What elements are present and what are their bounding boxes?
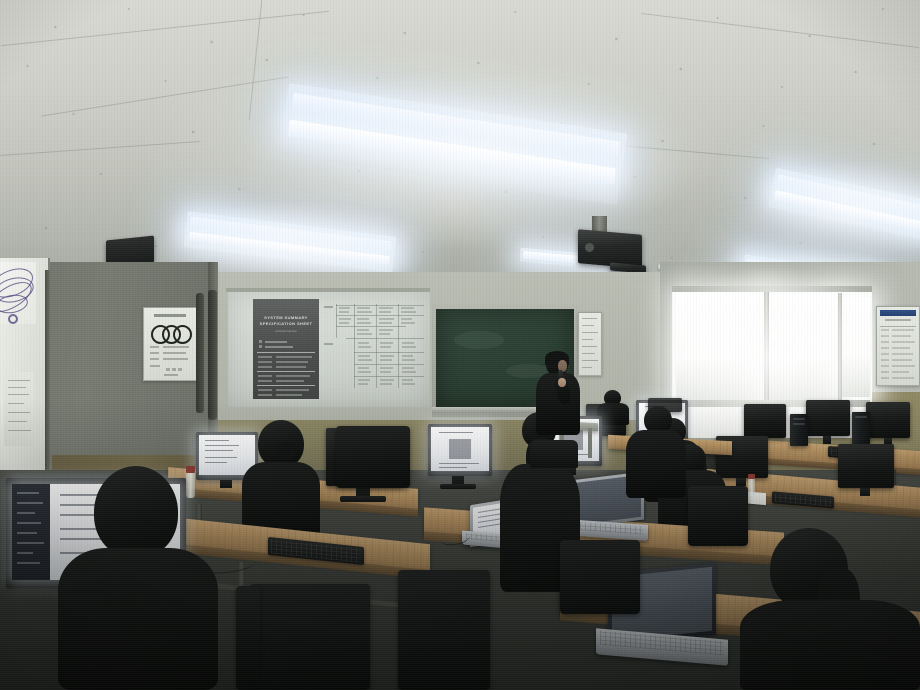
pc-tower	[852, 412, 870, 444]
poster-footer	[164, 374, 178, 376]
poster-line	[150, 365, 160, 367]
sidebar-line	[17, 492, 39, 494]
table-cell	[358, 359, 372, 361]
notice-cell	[892, 371, 909, 373]
slide-bullet	[265, 346, 293, 348]
drive-bay	[793, 418, 805, 420]
window-head-trim	[672, 286, 872, 292]
right-notice-board	[876, 306, 920, 386]
table-cell	[402, 379, 413, 381]
table-column-rule	[376, 304, 377, 388]
table-cell	[357, 333, 372, 335]
monitor-stand	[860, 488, 870, 496]
table-cell	[380, 359, 392, 361]
slide-row	[276, 356, 312, 358]
notice-cell	[881, 329, 889, 331]
window-blind	[842, 297, 870, 397]
ring-icon	[173, 325, 192, 344]
slide-row	[258, 366, 272, 368]
notice-cell	[881, 341, 889, 343]
window-mullion	[838, 293, 842, 403]
table-cell	[402, 346, 416, 348]
notice-cell	[892, 347, 910, 349]
sidebar-line	[17, 552, 33, 554]
slide-divider	[257, 352, 315, 353]
slide-row	[258, 394, 272, 396]
document-line	[439, 432, 473, 433]
table-cell	[380, 371, 391, 373]
table-cell	[358, 379, 370, 381]
sidebar-line	[17, 512, 35, 514]
water-bottle	[748, 478, 755, 496]
window-blind	[676, 292, 764, 407]
sidebar-line	[17, 522, 41, 524]
table-cell	[380, 355, 394, 357]
notice-line	[582, 346, 597, 347]
drive-bay	[793, 423, 805, 425]
table-cell	[401, 311, 416, 313]
document-sidebar	[12, 484, 50, 580]
classroom-photo: SYSTEM SUMMARY SPECIFICATION SHEET techn…	[0, 0, 920, 690]
slide-divider	[257, 385, 315, 386]
hair-bun	[278, 442, 296, 460]
document-line	[205, 445, 239, 446]
table-cell	[402, 367, 414, 369]
notice-cell	[892, 329, 914, 331]
student-left-mid	[242, 420, 320, 540]
notice-cell	[881, 347, 889, 349]
slide-row	[276, 361, 308, 363]
slide-row	[276, 366, 306, 368]
sidebar-line	[17, 542, 44, 544]
table-rule	[346, 338, 424, 339]
slide-row	[258, 356, 272, 358]
wall-artwork	[0, 262, 36, 324]
monitor-stand	[220, 480, 232, 488]
table-rule	[354, 364, 424, 365]
slide-bullet	[265, 341, 287, 343]
notice-line	[582, 360, 598, 361]
table-cell	[339, 318, 351, 320]
table-cell	[379, 329, 393, 331]
table-cell	[358, 383, 368, 385]
chair[interactable]	[560, 540, 640, 614]
table-column-rule	[336, 304, 337, 338]
notice-line	[582, 339, 593, 340]
student-front-left	[58, 466, 218, 690]
torso	[626, 430, 686, 498]
notice-line	[582, 325, 594, 326]
notice-cell	[892, 365, 915, 367]
table-cell	[357, 322, 371, 324]
notice-rule	[880, 326, 916, 327]
table-cell	[379, 311, 391, 313]
table-cell	[401, 307, 414, 309]
chair[interactable]	[398, 570, 490, 690]
notice-line	[582, 367, 592, 368]
monitor-back-right-2	[806, 400, 850, 436]
table-cell	[339, 307, 350, 309]
table-cell	[402, 371, 416, 373]
table-cell	[380, 346, 391, 348]
notice-line	[8, 430, 31, 431]
sidebar-line	[17, 562, 40, 564]
notice-cell	[892, 377, 914, 379]
document-line	[205, 450, 233, 451]
pc-tower	[790, 414, 808, 446]
slide-subtitle: technical overview	[260, 330, 313, 333]
window-blind	[768, 294, 838, 402]
notice-line	[582, 332, 598, 333]
notice-cell	[881, 353, 889, 355]
table-rule	[354, 376, 424, 377]
drive-bay	[855, 416, 867, 418]
notice-cell	[881, 365, 889, 367]
monitor-right-mid-2	[838, 444, 894, 488]
table-cell	[380, 383, 392, 385]
poster-line	[172, 368, 176, 371]
table-cell	[379, 322, 392, 324]
slide-left-panel: SYSTEM SUMMARY SPECIFICATION SHEET techn…	[253, 299, 319, 399]
table-row-label	[324, 306, 333, 308]
table-cell	[357, 311, 372, 313]
poster-line	[150, 346, 159, 348]
slide-title: SYSTEM SUMMARY	[258, 315, 313, 320]
slide-row	[276, 380, 304, 382]
slide-specification-table	[324, 302, 426, 394]
monitor-stand	[736, 478, 746, 486]
screen-roller	[208, 290, 217, 420]
table-cell	[358, 367, 369, 369]
table-cell	[402, 342, 414, 344]
slide-bullet	[259, 340, 262, 343]
table-cell	[358, 355, 370, 357]
notice-line	[582, 353, 595, 354]
slide-row	[258, 389, 272, 391]
table-cell	[402, 355, 413, 357]
document-image-block	[449, 439, 471, 459]
table-cell	[357, 329, 369, 331]
notice-cell	[881, 377, 889, 379]
chair[interactable]	[236, 586, 260, 690]
monitor-screen-content	[431, 427, 489, 471]
table-cell	[339, 322, 349, 324]
three-rings-poster	[143, 307, 197, 381]
slide-title-second-line: SPECIFICATION SHEET	[258, 321, 313, 326]
torso	[58, 548, 218, 690]
table-cell	[380, 367, 393, 369]
poster-line	[163, 346, 189, 348]
document-line	[205, 440, 229, 441]
table-cell	[379, 318, 394, 320]
chair-behind-presenter	[530, 440, 578, 468]
chair[interactable]	[688, 486, 748, 546]
table-rule	[354, 352, 424, 353]
slide-row	[276, 389, 309, 391]
student-front-right	[740, 528, 920, 690]
torso	[740, 600, 920, 690]
poster-line	[150, 352, 159, 354]
poster-title-bar	[154, 314, 186, 317]
notice-cell	[881, 335, 889, 337]
hand	[558, 378, 566, 387]
poster-line	[163, 358, 188, 360]
notice-line	[8, 403, 24, 404]
slide-divider	[257, 371, 315, 372]
sidebar-line	[17, 502, 43, 504]
table-cell	[379, 307, 393, 309]
poster-line	[166, 368, 170, 371]
slide-row	[258, 375, 272, 377]
notice-cell	[892, 353, 913, 355]
notice-line	[8, 387, 26, 388]
monitor-base	[340, 496, 386, 502]
whiteboard-notice	[4, 372, 34, 446]
table-cell	[401, 322, 415, 324]
left-wall-trim	[196, 293, 204, 413]
table-cell	[402, 359, 415, 361]
poster-line	[178, 368, 182, 371]
notice-line	[8, 412, 30, 413]
slide-row	[258, 380, 272, 382]
presenter	[536, 352, 580, 452]
table-cell	[358, 371, 371, 373]
document-line	[205, 462, 227, 463]
slide-row	[276, 394, 302, 396]
notice-line	[582, 318, 597, 319]
notice-line	[8, 394, 29, 395]
table-row-label	[324, 343, 333, 345]
monitor-stand	[823, 436, 831, 444]
poster-line	[150, 358, 159, 360]
notice-line	[8, 380, 30, 381]
notice-line	[8, 421, 27, 422]
table-cell	[357, 318, 369, 320]
window-mullion	[764, 290, 769, 408]
bottle-cap	[748, 474, 755, 479]
table-cell	[380, 379, 394, 381]
podium-leg	[588, 428, 592, 458]
notice-cell	[881, 371, 889, 373]
projection-screen: SYSTEM SUMMARY SPECIFICATION SHEET techn…	[228, 292, 430, 407]
document-line	[439, 467, 467, 468]
sidebar-line	[17, 532, 37, 534]
slide-row	[276, 375, 310, 377]
table-column-rule	[398, 304, 399, 388]
table-cell	[358, 346, 371, 348]
scribble-dot	[8, 314, 18, 324]
table-cell	[380, 342, 393, 344]
monitor-back-right-3	[866, 402, 910, 438]
table-rule	[336, 326, 406, 327]
notice-cell	[892, 335, 911, 337]
left-wall-pipe	[45, 270, 50, 470]
notice-cell	[892, 341, 915, 343]
slide-row	[258, 361, 272, 363]
document-line	[439, 463, 479, 464]
notice-board-title	[885, 319, 911, 321]
table-rule	[336, 305, 424, 306]
table-cell	[402, 383, 415, 385]
chair[interactable]	[336, 426, 410, 488]
monitor-back-right-1	[744, 404, 786, 438]
table-cell	[401, 318, 412, 320]
slide-bullet	[259, 345, 262, 348]
table-column-rule	[354, 304, 355, 388]
table-cell	[379, 333, 390, 335]
table-cell	[358, 342, 369, 344]
chalk-smudge	[454, 331, 504, 349]
monitor-base	[440, 484, 476, 489]
front-notice-sheet	[578, 312, 602, 376]
head	[94, 466, 178, 558]
poster-line	[163, 352, 186, 354]
student-center-right	[626, 406, 688, 498]
document-line	[205, 457, 237, 458]
notice-board-header	[880, 310, 916, 316]
table-rule	[336, 315, 424, 316]
notice-cell	[881, 359, 889, 361]
notice-cell	[892, 359, 912, 361]
projector-lens	[585, 243, 594, 252]
chair[interactable]	[250, 584, 370, 690]
table-cell	[357, 307, 370, 309]
table-cell	[339, 311, 349, 313]
